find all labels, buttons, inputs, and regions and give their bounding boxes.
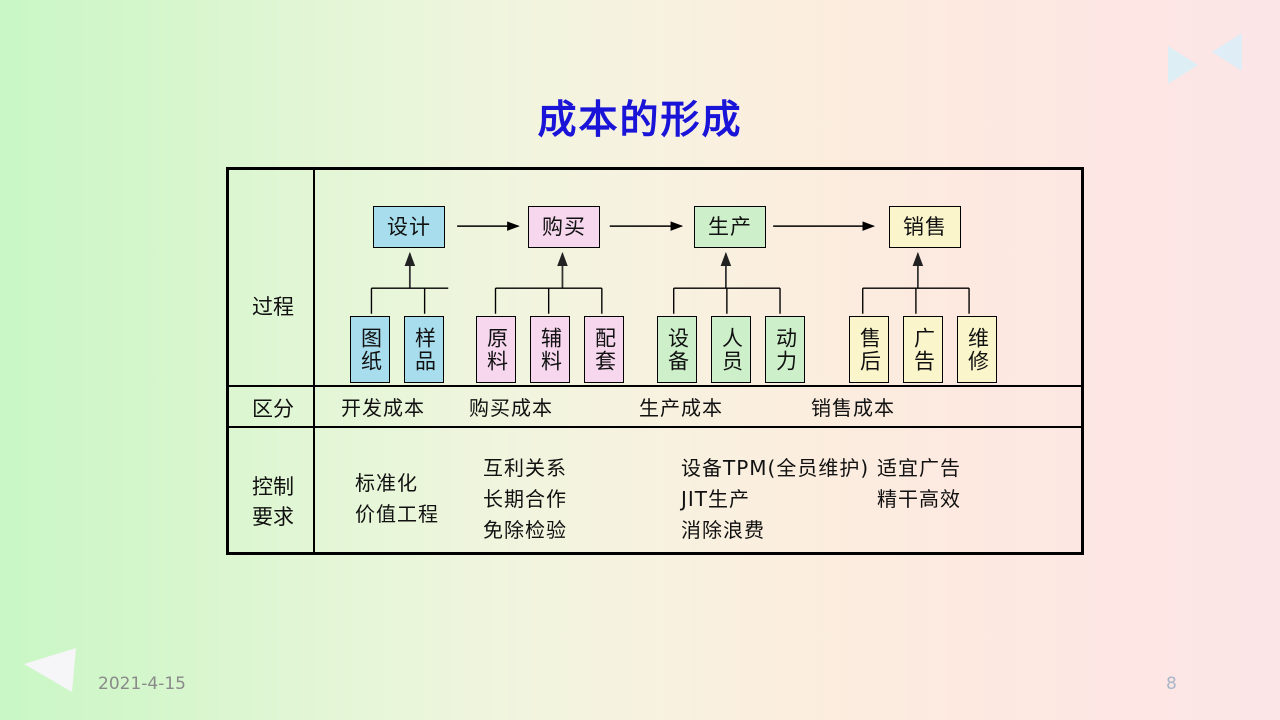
classification-sales-cost: 销售成本 <box>811 392 895 421</box>
decorative-triangle-bottom-left <box>14 624 94 694</box>
process-child-sample[interactable]: 样品 <box>404 316 444 383</box>
row-label-classification: 区分 <box>235 394 311 424</box>
process-child-raw-material[interactable]: 原料 <box>476 316 516 383</box>
control-requirement-production: 设备TPM(全员维护) JIT生产 消除浪费 <box>681 453 869 546</box>
row-divider-process-classification <box>229 385 1081 387</box>
classification-production-cost: 生产成本 <box>639 392 723 421</box>
process-child-after-sales[interactable]: 售后 <box>849 316 889 383</box>
process-child-maintenance[interactable]: 维修 <box>957 316 997 383</box>
control-requirement-sales: 适宜广告 精干高效 <box>877 453 961 515</box>
row-divider-classification-control <box>229 426 1081 428</box>
process-child-drawing[interactable]: 图纸 <box>350 316 390 383</box>
decorative-triangle-right-pointing <box>1168 46 1198 84</box>
process-child-equipment[interactable]: 设备 <box>657 316 697 383</box>
slide-page-number: 8 <box>1166 674 1177 694</box>
process-child-advertising[interactable]: 广告 <box>903 316 943 383</box>
row-label-process: 过程 <box>235 292 311 322</box>
process-node-sales[interactable]: 销售 <box>889 206 961 248</box>
process-child-aux-material[interactable]: 辅料 <box>530 316 570 383</box>
classification-development-cost: 开发成本 <box>341 392 425 421</box>
process-child-kit[interactable]: 配套 <box>584 316 624 383</box>
row-label-control: 控制 要求 <box>235 472 311 532</box>
process-child-power[interactable]: 动力 <box>765 316 805 383</box>
classification-purchase-cost: 购买成本 <box>469 392 553 421</box>
control-requirement-development: 标准化 价值工程 <box>355 468 439 530</box>
process-child-personnel[interactable]: 人员 <box>711 316 751 383</box>
slide-date: 2021-4-15 <box>98 674 186 694</box>
control-requirement-purchase: 互利关系 长期合作 免除检验 <box>483 453 567 546</box>
process-node-production[interactable]: 生产 <box>694 206 766 248</box>
process-node-purchase[interactable]: 购买 <box>528 206 600 248</box>
decorative-triangle-left-pointing <box>1212 33 1242 71</box>
process-node-design[interactable]: 设计 <box>373 206 445 248</box>
cost-formation-table: 过程 区分 控制 要求 <box>226 167 1084 555</box>
page-title: 成本的形成 <box>0 98 1280 144</box>
